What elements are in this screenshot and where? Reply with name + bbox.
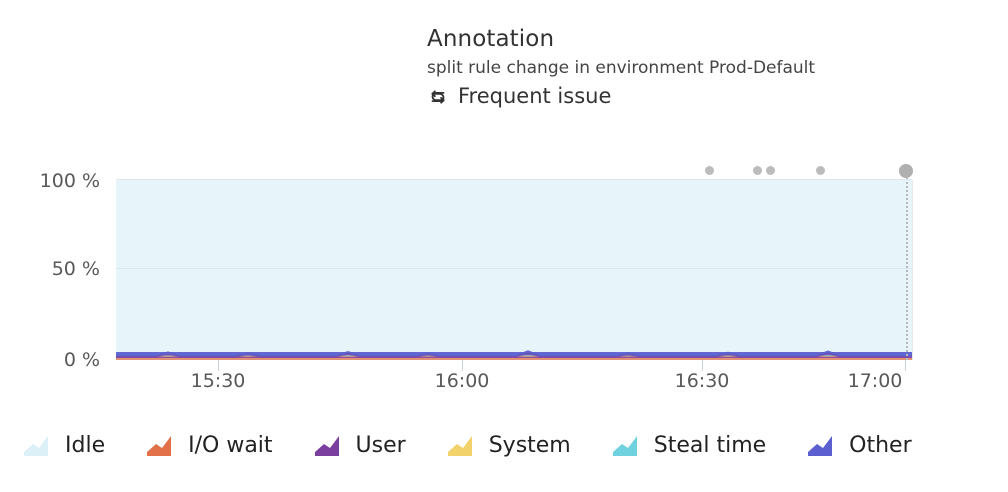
area-chart-icon	[808, 434, 838, 458]
plot-right-border	[912, 180, 913, 360]
legend-item-steal-time[interactable]: Steal time	[613, 434, 766, 458]
x-tick-label-1630: 16:30	[675, 372, 730, 391]
annotation-dot[interactable]	[816, 166, 825, 175]
annotation-dot[interactable]	[753, 166, 762, 175]
legend-item-io-wait[interactable]: I/O wait	[147, 434, 272, 458]
x-tick-label-1700: 17:00	[848, 372, 903, 391]
legend-label: Other	[849, 434, 911, 458]
annotation-guide-line	[906, 177, 908, 360]
gridline-50	[116, 268, 912, 269]
legend-item-system[interactable]: System	[448, 434, 571, 458]
plot-top-border	[116, 179, 912, 180]
legend-item-user[interactable]: User	[315, 434, 406, 458]
stacked-series-band	[116, 351, 912, 360]
annotation-header: Annotation split rule change in environm…	[427, 24, 967, 110]
annotation-selected-dot[interactable]	[899, 164, 913, 178]
x-tick-label-1600: 16:00	[435, 372, 490, 391]
area-chart-icon	[147, 434, 177, 458]
legend-label: Steal time	[654, 434, 766, 458]
area-chart-icon	[448, 434, 478, 458]
annotation-dot[interactable]	[705, 166, 714, 175]
legend-item-idle[interactable]: Idle	[24, 434, 105, 458]
annotation-title: Annotation	[427, 24, 967, 54]
legend-label: Idle	[65, 434, 105, 458]
x-tick-mark	[905, 360, 906, 371]
x-axis: 15:30 16:00 16:30 17:00	[0, 360, 1008, 390]
series-bumps	[116, 348, 912, 358]
chart-legend: Idle I/O wait User System Steal time Oth…	[24, 425, 912, 467]
plot-area[interactable]	[116, 180, 912, 360]
cpu-usage-chart: 100 % 50 % 0 %	[0, 150, 1008, 390]
y-tick-label-50: 50 %	[0, 260, 100, 279]
y-tick-label-100: 100 %	[0, 172, 100, 191]
annotation-selected-marker[interactable]	[906, 164, 907, 360]
y-axis: 100 % 50 % 0 %	[0, 150, 100, 390]
x-tick-label-1530: 15:30	[191, 372, 246, 391]
annotation-tagline: Frequent issue	[427, 82, 967, 110]
annotation-tagline-label: Frequent issue	[458, 82, 611, 110]
annotation-dot[interactable]	[766, 166, 775, 175]
area-chart-icon	[315, 434, 345, 458]
repeat-icon	[427, 86, 449, 108]
legend-label: System	[489, 434, 571, 458]
legend-label: I/O wait	[188, 434, 272, 458]
legend-label: User	[356, 434, 406, 458]
area-chart-icon	[24, 434, 54, 458]
area-chart-icon	[613, 434, 643, 458]
annotation-subtitle: split rule change in environment Prod-De…	[427, 56, 967, 80]
legend-item-other[interactable]: Other	[808, 434, 911, 458]
